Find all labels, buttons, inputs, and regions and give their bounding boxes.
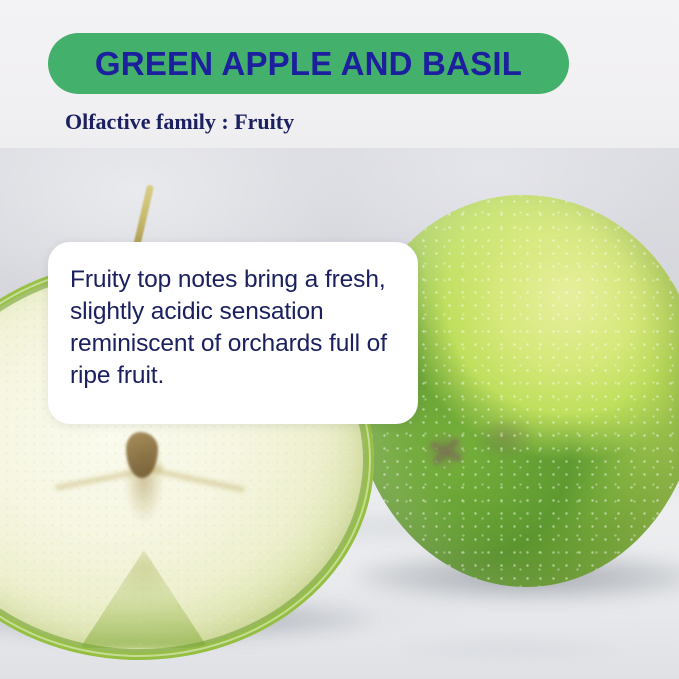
description-card: Fruity top notes bring a fresh, slightly… — [48, 242, 418, 424]
product-infographic: GREEN APPLE AND BASIL Olfactive family :… — [0, 0, 679, 679]
olfactive-family-label: Olfactive family : Fruity — [65, 109, 294, 135]
page-title: GREEN APPLE AND BASIL — [95, 47, 522, 80]
apple-calyx — [415, 423, 477, 479]
description-text: Fruity top notes bring a fresh, slightly… — [70, 264, 402, 391]
header-band: GREEN APPLE AND BASIL Olfactive family :… — [0, 0, 679, 148]
title-pill: GREEN APPLE AND BASIL — [48, 33, 569, 94]
